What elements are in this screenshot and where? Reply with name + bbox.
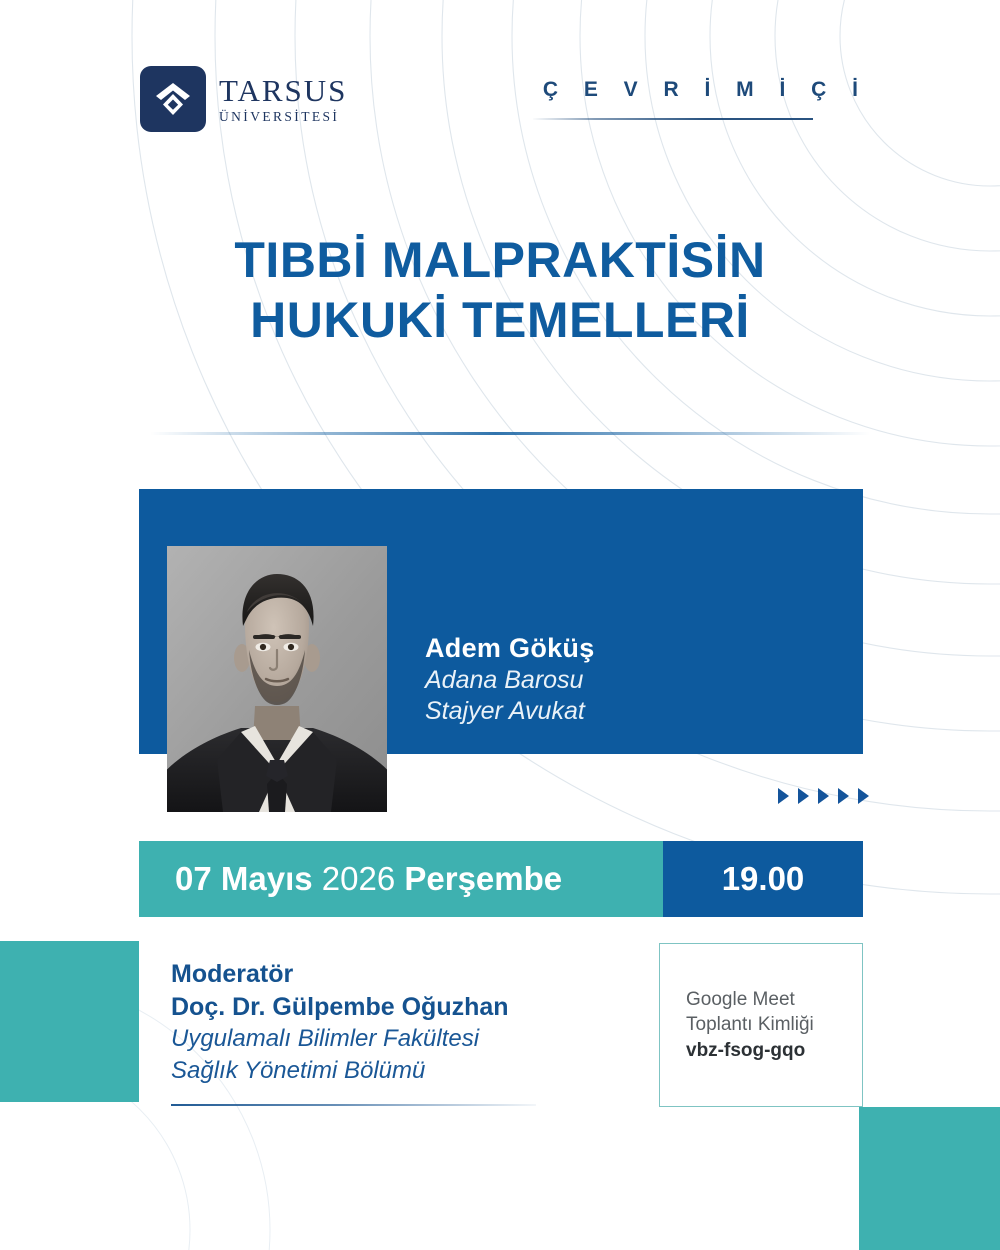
event-weekday: Perşembe — [404, 860, 562, 898]
moderator-name: Doç. Dr. Gülpembe Oğuzhan — [171, 991, 509, 1024]
teal-accent-block-left — [0, 941, 139, 1102]
moderator-department: Sağlık Yönetimi Bölümü — [171, 1055, 509, 1087]
speaker-role: Stajyer Avukat — [425, 696, 595, 728]
moderator-details: Moderatör Doç. Dr. Gülpembe Oğuzhan Uygu… — [171, 958, 509, 1086]
event-datetime-bar: 07 Mayıs 2026 Perşembe 19.00 — [139, 841, 863, 917]
logo-university-subname: ÜNİVERSİTESİ — [219, 110, 347, 124]
event-year: 2026 — [322, 860, 395, 898]
teal-accent-block-right — [859, 1107, 1000, 1250]
speaker-details: Adem Göküş Adana Barosu Stajyer Avukat — [425, 632, 595, 728]
tarsus-university-diamond-logo-icon — [140, 66, 206, 132]
play-triangle-icon — [818, 788, 829, 804]
event-month: Mayıs — [221, 860, 313, 898]
google-meet-info-box[interactable]: Google Meet Toplantı Kimliği vbz-fsog-gq… — [659, 943, 863, 1107]
event-time: 19.00 — [663, 841, 863, 917]
speaker-affiliation: Adana Barosu — [425, 665, 595, 697]
online-badge-rule — [533, 118, 813, 120]
logo-university-name: TARSUS — [219, 75, 347, 106]
poster-title-line-2: HUKUKİ TEMELLERİ — [0, 290, 1000, 350]
meet-id-label: Toplantı Kimliği — [686, 1012, 862, 1037]
moderator-faculty: Uygulamalı Bilimler Fakültesi — [171, 1023, 509, 1055]
online-badge-label: Ç E V R İ M İ Ç İ — [533, 78, 868, 102]
speaker-name: Adem Göküş — [425, 632, 595, 665]
meet-platform-label: Google Meet — [686, 987, 862, 1012]
university-logo: TARSUS ÜNİVERSİTESİ — [140, 66, 347, 132]
moderator-divider — [171, 1104, 536, 1106]
online-badge: Ç E V R İ M İ Ç İ — [533, 78, 868, 120]
play-triangle-icon — [858, 788, 869, 804]
event-date: 07 Mayıs 2026 Perşembe — [139, 841, 663, 917]
webinar-poster: TARSUS ÜNİVERSİTESİ Ç E V R İ M İ Ç İ TI… — [0, 0, 1000, 1250]
play-triangle-icon — [798, 788, 809, 804]
poster-title: TIBBİ MALPRAKTİSİN HUKUKİ TEMELLERİ — [0, 230, 1000, 350]
arrow-decoration — [778, 788, 869, 804]
meet-id-value[interactable]: vbz-fsog-gqo — [686, 1038, 862, 1063]
event-day: 07 — [175, 860, 212, 898]
play-triangle-icon — [778, 788, 789, 804]
title-divider — [150, 432, 870, 435]
speaker-portrait-photo — [167, 546, 387, 812]
moderator-label: Moderatör — [171, 958, 509, 991]
play-triangle-icon — [838, 788, 849, 804]
poster-title-line-1: TIBBİ MALPRAKTİSİN — [0, 230, 1000, 290]
